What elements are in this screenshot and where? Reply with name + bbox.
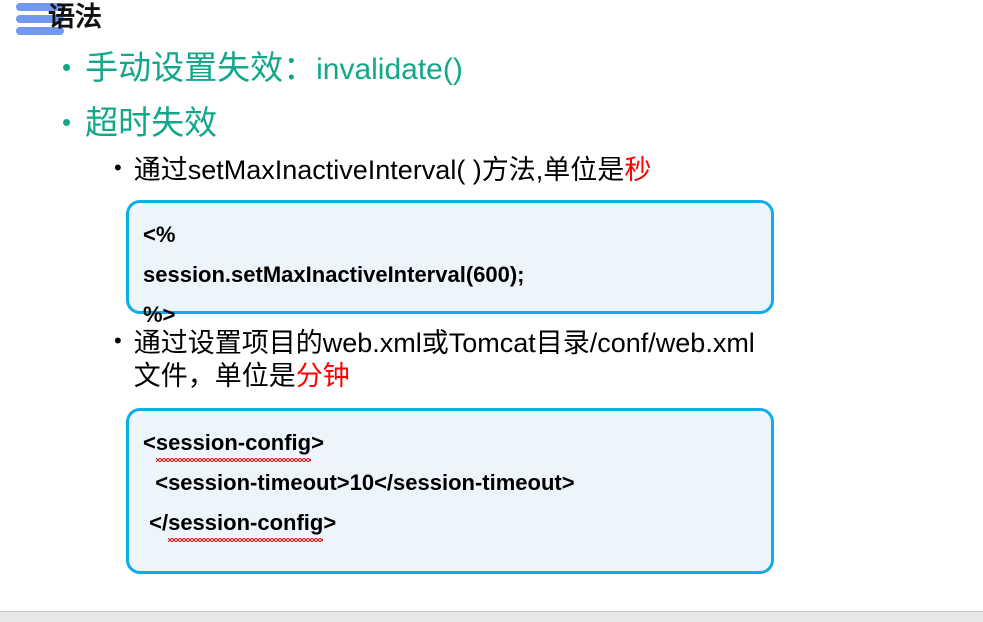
spellcheck-underlined-text: session-config	[156, 423, 311, 463]
bullet-marker: •	[114, 330, 122, 352]
code-line: <%	[143, 215, 771, 255]
code-block-webxml-session-config: <session-config> <session-timeout>10</se…	[126, 408, 774, 574]
bullet-level3-text: 通过setMaxInactiveInterval( )方法,单位是秒	[134, 154, 954, 187]
bullet-level3-body: 通过setMaxInactiveInterval( )方法,单位是	[134, 155, 625, 185]
bullet-level3-setmaxinactiveinterval: • 通过setMaxInactiveInterval( )方法,单位是秒	[114, 154, 954, 187]
code-fragment: >	[323, 510, 336, 535]
bullet-level2-timeout: • 超时失效	[62, 103, 217, 143]
bullet-level2-label: 手动设置失效：	[85, 49, 316, 86]
bullet-level3-emphasis: 分钟	[296, 361, 350, 391]
code-fragment: <	[143, 430, 156, 455]
bullet-level3-webxml-tomcat: • 通过设置项目的web.xml或Tomcat目录/conf/web.xml文件…	[114, 327, 974, 393]
bullet-level2-manual-invalidate: • 手动设置失效：invalidate()	[62, 48, 463, 90]
code-block-jsp-setmaxinactiveinterval: <% session.setMaxInactiveInterval(600); …	[126, 200, 774, 314]
code-fragment: >	[311, 430, 324, 455]
bullet-marker: •	[114, 157, 122, 179]
spellcheck-underlined-text: session-config	[168, 503, 323, 543]
code-line: <session-config>	[143, 423, 771, 463]
code-line: session.setMaxInactiveInterval(600);	[143, 255, 771, 295]
bullet-level3-body-line2: 文件，单位是	[134, 361, 296, 391]
status-bar	[0, 611, 983, 622]
code-line: </session-config>	[143, 503, 771, 543]
bullet-level2-label: 超时失效	[85, 103, 217, 143]
bullet-level2-code: invalidate()	[316, 53, 463, 86]
bullet-marker: •	[62, 54, 71, 80]
page-title: 语法	[48, 0, 102, 34]
bullet-level2-text: 手动设置失效：invalidate()	[85, 48, 463, 90]
bullet-marker: •	[62, 109, 71, 135]
code-line: <session-timeout>10</session-timeout>	[143, 463, 771, 503]
bullet-level3-emphasis: 秒	[624, 155, 651, 185]
slide-title-bar: 语法	[0, 0, 983, 44]
bullet-level3-body-line1: 通过设置项目的web.xml或Tomcat目录/conf/web.xml	[134, 328, 755, 358]
bullet-level3-text: 通过设置项目的web.xml或Tomcat目录/conf/web.xml文件，单…	[134, 327, 974, 393]
code-fragment: </	[143, 510, 168, 535]
